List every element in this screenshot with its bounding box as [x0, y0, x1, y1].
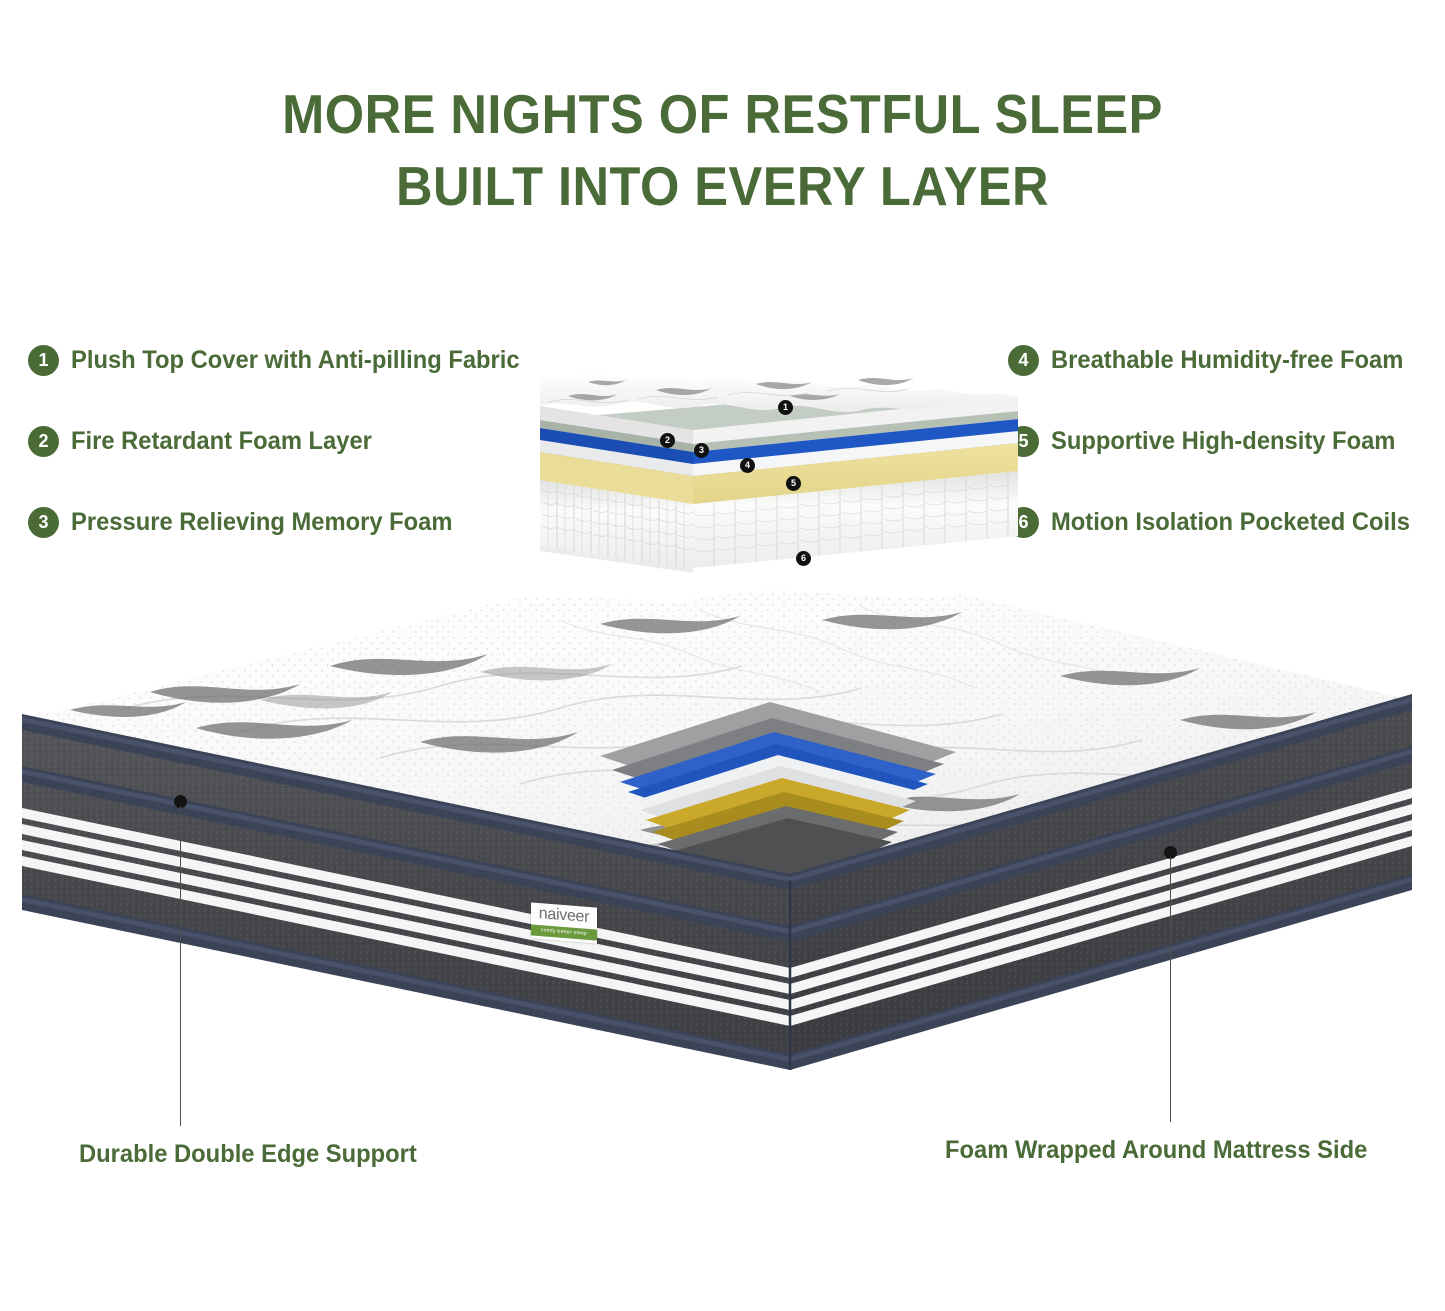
feature-label-2: Fire Retardant Foam Layer: [71, 427, 372, 456]
callout-line-foam-wrap: [1170, 857, 1171, 1122]
feature-item-6: 6 Motion Isolation Pocketed Coils: [1008, 502, 1445, 542]
diagram-marker-5-icon: 5: [786, 476, 801, 491]
mattress-illustration: [0, 580, 1445, 1100]
exploded-layer-diagram: 1 2 3 4 5 6: [528, 368, 1028, 583]
callout-label-edge-support: Durable Double Edge Support: [79, 1140, 417, 1169]
title-line-1: MORE NIGHTS OF RESTFUL SLEEP: [58, 78, 1387, 150]
feature-list-right: 4 Breathable Humidity-free Foam 5 Suppor…: [1008, 340, 1445, 583]
layer-stack-illustration: [528, 368, 1028, 583]
feature-badge-3-icon: 3: [28, 507, 59, 538]
diagram-marker-2-icon: 2: [660, 433, 675, 448]
callout-label-foam-wrap: Foam Wrapped Around Mattress Side: [945, 1136, 1367, 1165]
diagram-marker-4-icon: 4: [740, 458, 755, 473]
brand-label: naiveer comfy better sleep: [531, 902, 597, 943]
feature-item-3: 3 Pressure Relieving Memory Foam: [28, 502, 588, 542]
feature-item-4: 4 Breathable Humidity-free Foam: [1008, 340, 1445, 380]
feature-label-4: Breathable Humidity-free Foam: [1051, 346, 1403, 375]
feature-badge-2-icon: 2: [28, 426, 59, 457]
diagram-marker-6-icon: 6: [796, 551, 811, 566]
feature-label-6: Motion Isolation Pocketed Coils: [1051, 508, 1410, 537]
page-title: MORE NIGHTS OF RESTFUL SLEEP BUILT INTO …: [0, 78, 1445, 222]
diagram-marker-1-icon: 1: [778, 400, 793, 415]
feature-item-5: 5 Supportive High-density Foam: [1008, 421, 1445, 461]
title-line-2: BUILT INTO EVERY LAYER: [58, 150, 1387, 222]
callout-line-edge-support: [180, 806, 181, 1126]
feature-badge-1-icon: 1: [28, 345, 59, 376]
feature-label-3: Pressure Relieving Memory Foam: [71, 508, 452, 537]
feature-label-1: Plush Top Cover with Anti-pilling Fabric: [71, 346, 520, 375]
feature-label-5: Supportive High-density Foam: [1051, 427, 1395, 456]
feature-item-1: 1 Plush Top Cover with Anti-pilling Fabr…: [28, 340, 588, 380]
feature-item-2: 2 Fire Retardant Foam Layer: [28, 421, 588, 461]
feature-list-left: 1 Plush Top Cover with Anti-pilling Fabr…: [28, 340, 588, 583]
diagram-marker-3-icon: 3: [694, 443, 709, 458]
mattress-svg: [0, 580, 1445, 1100]
